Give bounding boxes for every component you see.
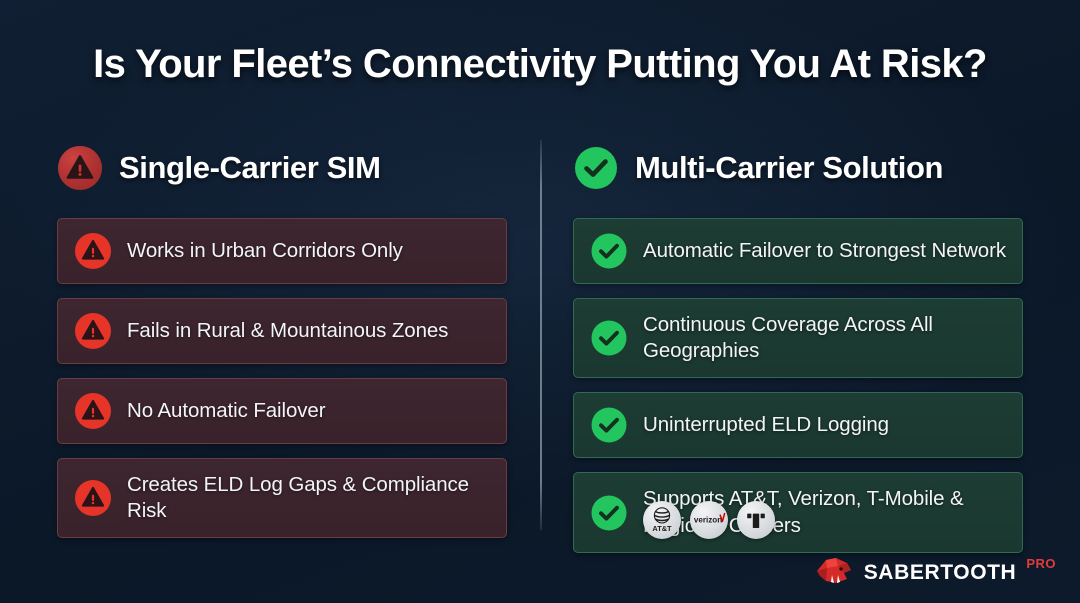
tmobile-logo-icon	[737, 501, 775, 539]
verizon-logo-label: verizon	[694, 515, 722, 524]
sabertooth-head-icon	[814, 555, 854, 589]
brand-logo: SABERTOOTH PRO	[814, 555, 1056, 589]
column-heading: Multi-Carrier Solution	[635, 150, 943, 186]
warning-icon	[74, 392, 112, 430]
column-divider	[540, 140, 542, 530]
list-item-text: Uninterrupted ELD Logging	[643, 412, 889, 438]
list-item: Continuous Coverage Across All Geographi…	[573, 298, 1023, 378]
list-item-text: Creates ELD Log Gaps & Compliance Risk	[127, 472, 490, 524]
warning-icon	[57, 145, 103, 191]
list-item: Fails in Rural & Mountainous Zones	[57, 298, 507, 364]
column-single-carrier: Single-Carrier SIM Works in Urban Corrid…	[57, 140, 507, 552]
check-circle-icon	[590, 406, 628, 444]
list-item: Automatic Failover to Strongest Network	[573, 218, 1023, 284]
list-item: Supports AT&T, Verizon, T-Mobile & Regio…	[573, 472, 1023, 552]
brand-suffix: PRO	[1026, 557, 1056, 570]
carrier-badge-verizon: verizon	[690, 501, 728, 539]
att-logo-label: AT&T	[652, 524, 672, 533]
column-header-single-carrier: Single-Carrier SIM	[57, 140, 507, 196]
check-circle-icon	[590, 232, 628, 270]
warning-icon	[74, 312, 112, 350]
check-circle-icon	[590, 494, 628, 532]
verizon-logo-icon: verizon	[690, 501, 728, 539]
list-item-text: No Automatic Failover	[127, 398, 325, 424]
warning-icon	[74, 232, 112, 270]
att-logo-icon: AT&T	[643, 501, 681, 539]
carrier-badge-att: AT&T	[643, 501, 681, 539]
carrier-badge-tmobile	[737, 501, 775, 539]
column-heading: Single-Carrier SIM	[119, 150, 381, 186]
page-title: Is Your Fleet’s Connectivity Putting You…	[0, 42, 1080, 87]
column-multi-carrier: Multi-Carrier Solution Automatic Failove…	[573, 140, 1023, 567]
list-item-text: Fails in Rural & Mountainous Zones	[127, 318, 448, 344]
list-item: Works in Urban Corridors Only	[57, 218, 507, 284]
carrier-logo-row: AT&T verizon	[643, 501, 775, 539]
list-item-text: Continuous Coverage Across All Geographi…	[643, 312, 1006, 364]
warning-icon	[74, 479, 112, 517]
list-item: Uninterrupted ELD Logging	[573, 392, 1023, 458]
list-item-text: Automatic Failover to Strongest Network	[643, 238, 1006, 264]
list-item: Creates ELD Log Gaps & Compliance Risk	[57, 458, 507, 538]
check-circle-icon	[573, 145, 619, 191]
column-header-multi-carrier: Multi-Carrier Solution	[573, 140, 1023, 196]
list-item: No Automatic Failover	[57, 378, 507, 444]
list-item-text: Works in Urban Corridors Only	[127, 238, 403, 264]
check-circle-icon	[590, 319, 628, 357]
brand-name: SABERTOOTH	[864, 562, 1017, 583]
